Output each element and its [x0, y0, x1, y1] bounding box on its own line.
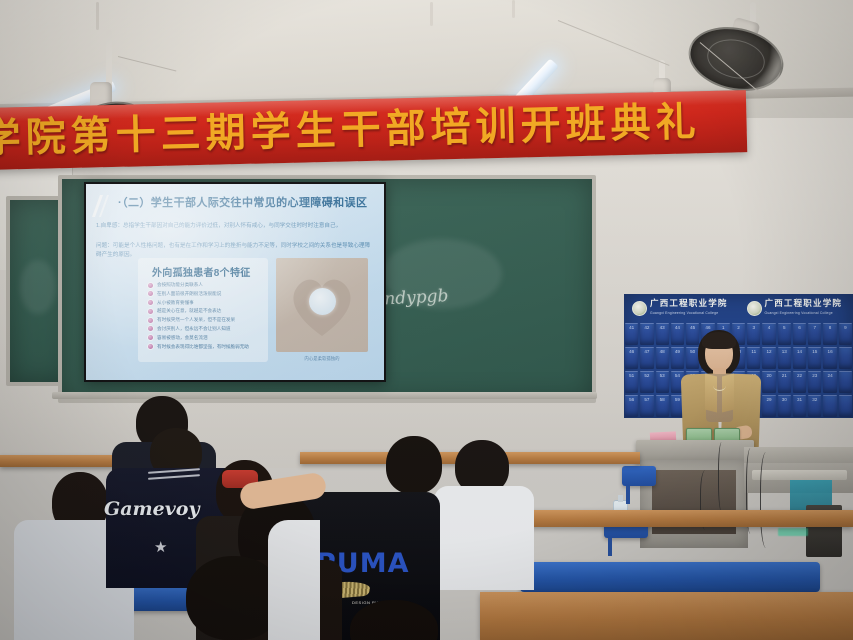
bullet-text: 容易被感动，会莫名流泪	[157, 335, 208, 341]
bullet-text: 越是关心在意，就越是不会表达	[157, 308, 221, 314]
college-name-2: 广西工程职业学院Guangxi Engineering Vocational C…	[765, 298, 843, 318]
blue-stool-far	[622, 466, 656, 486]
phone-pocket[interactable]: 47	[640, 347, 653, 369]
ceiling-fan-icon	[680, 2, 784, 98]
necklace	[713, 380, 726, 391]
college-sign: 广西工程职业学院Guangxi Engineering Vocational C…	[739, 294, 853, 322]
bullet-text: 会讨厌别人，但永远不会让别人知道	[157, 326, 231, 332]
college-sign-row: 广西工程职业学院Guangxi Engineering Vocational C…	[624, 294, 853, 322]
head	[386, 436, 442, 494]
cable	[760, 452, 775, 548]
phone-pocket[interactable]: 21	[778, 371, 791, 393]
bullet-text: 有时候会表现得比谁都坚强，有时候脆弱无助	[157, 344, 249, 350]
bullet-dot-icon	[148, 309, 153, 314]
phone-pocket[interactable]: 14	[793, 347, 806, 369]
phone-pocket[interactable]: 53	[656, 371, 669, 393]
bullet-dot-icon	[148, 291, 153, 296]
shoulder	[268, 520, 320, 640]
college-sign: 广西工程职业学院Guangxi Engineering Vocational C…	[624, 294, 739, 322]
slide-paragraph-1: 1.自卑感：总指学生干部因对自己的能力评价过低，对别人怀有戒心，与同学交往时时时…	[96, 222, 374, 231]
phone-pocket[interactable]: 31	[793, 395, 806, 417]
hair-top	[702, 332, 736, 349]
phone-pocket[interactable]: 51	[625, 371, 638, 393]
college-name-en: Guangxi Engineering Vocational College	[765, 308, 843, 318]
phone-pocket[interactable]: 22	[793, 371, 806, 393]
phone-pocket[interactable]: 5	[778, 323, 791, 345]
phone-pocket[interactable]: 48	[656, 347, 669, 369]
list-item: 会按照功能分类联系人	[148, 282, 262, 288]
light-stem	[430, 2, 433, 26]
jacket-text: Gamevoy	[104, 498, 199, 520]
slide-bullet-list: 会按照功能分类联系人 在别人面前很开朗很活泼很能说 从小被教育要懂事 越是关心在…	[148, 282, 262, 352]
bullet-dot-icon	[148, 335, 153, 340]
phone-pocket[interactable]: 16	[823, 347, 836, 369]
list-item: 会讨厌别人，但永远不会让别人知道	[148, 326, 262, 332]
fan-blade-cage	[683, 19, 790, 100]
list-item: 越是关心在意，就越是不会表达	[148, 308, 262, 314]
list-item: 在别人面前很开朗很活泼很能说	[148, 291, 262, 297]
slide-card-heading: 外向孤独患者8个特征	[152, 264, 251, 279]
list-item: 从小被教育要懂事	[148, 300, 262, 306]
bullet-text: 从小被教育要懂事	[157, 300, 194, 306]
college-name: 广西工程职业学院Guangxi Engineering Vocational C…	[650, 298, 728, 318]
phone-pocket[interactable]: 57	[640, 395, 653, 417]
phone-pocket[interactable]: 52	[640, 371, 653, 393]
cable	[718, 442, 727, 512]
torso	[434, 486, 534, 590]
slide-title: ·（二）学生干部人际交往中常见的心理障碍和误区	[118, 194, 367, 210]
list-item: 容易被感动，会莫名流泪	[148, 335, 262, 341]
led-display	[778, 528, 808, 536]
classroom-scene: 学院第十三期学生干部培训开班典礼 Andypgb ·（二）学生干部人际交往中常见…	[0, 0, 853, 640]
desk-front	[480, 592, 853, 640]
slide-illustration	[276, 258, 368, 352]
phone-pocket[interactable]: 7	[808, 323, 821, 345]
fan-pole	[106, 30, 112, 88]
college-name-en: Guangxi Engineering Vocational College	[650, 308, 728, 318]
slide-photo-caption: 内心是柔软孤独的	[276, 356, 368, 362]
chalk-smudge	[20, 260, 56, 314]
phone-pocket[interactable]	[823, 395, 836, 417]
bullet-dot-icon	[148, 326, 153, 331]
phone-pocket[interactable]	[839, 347, 852, 369]
slide-feature-card: 外向孤独患者8个特征 会按照功能分类联系人 在别人面前很开朗很活泼很能说 从小被…	[138, 258, 268, 362]
phone-pocket[interactable]: 30	[778, 395, 791, 417]
phone-pocket[interactable]: 6	[793, 323, 806, 345]
phone-pocket[interactable]	[839, 371, 852, 393]
bench-seat	[520, 562, 820, 592]
star-graphic-icon: ★	[154, 540, 167, 555]
phone-pocket[interactable]: 9	[839, 323, 852, 345]
phone-pocket[interactable]: 23	[808, 371, 821, 393]
chalk-tray	[52, 392, 597, 399]
phone-pocket[interactable]: 42	[640, 323, 653, 345]
bullet-dot-icon	[148, 283, 153, 288]
bullet-text: 会按照功能分类联系人	[157, 282, 203, 288]
desk-row-far-left	[0, 455, 120, 467]
list-item: 有时候会表现得比谁都坚强，有时候脆弱无助	[148, 344, 262, 350]
phone-pocket[interactable]: 56	[625, 395, 638, 417]
bullet-dot-icon	[148, 318, 153, 323]
face-icon	[309, 288, 336, 315]
light-stem	[96, 2, 99, 30]
phone-pocket[interactable]	[839, 395, 852, 417]
list-item: 有时候突然一个人发呆，但不是在发呆	[148, 317, 262, 323]
college-emblem-icon	[747, 301, 762, 316]
bullet-dot-icon	[148, 344, 153, 349]
bullet-dot-icon	[148, 300, 153, 305]
bullet-text: 有时候突然一个人发呆，但不是在发呆	[157, 317, 235, 323]
college-emblem-icon	[632, 301, 647, 316]
phone-pocket[interactable]: 13	[778, 347, 791, 369]
equipment-desk-top	[744, 447, 853, 463]
phone-pocket[interactable]: 8	[823, 323, 836, 345]
presentation-slide: ·（二）学生干部人际交往中常见的心理障碍和误区 1.自卑感：总指学生干部因对自己…	[86, 184, 384, 380]
slide-title-bar: ·（二）学生干部人际交往中常见的心理障碍和误区	[96, 194, 376, 218]
projection-screen: ·（二）学生干部人际交往中常见的心理障碍和误区 1.自卑感：总指学生干部因对自己…	[84, 182, 386, 382]
phone-pocket[interactable]: 46	[625, 347, 638, 369]
phone-pocket[interactable]: 41	[625, 323, 638, 345]
phone-pocket[interactable]: 43	[656, 323, 669, 345]
phone-pocket[interactable]: 32	[808, 395, 821, 417]
light-stem	[512, 0, 515, 18]
phone-pocket[interactable]: 58	[656, 395, 669, 417]
phone-pocket[interactable]: 24	[823, 371, 836, 393]
bullet-text: 在别人面前很开朗很活泼很能说	[157, 291, 221, 297]
phone-pocket[interactable]: 15	[808, 347, 821, 369]
